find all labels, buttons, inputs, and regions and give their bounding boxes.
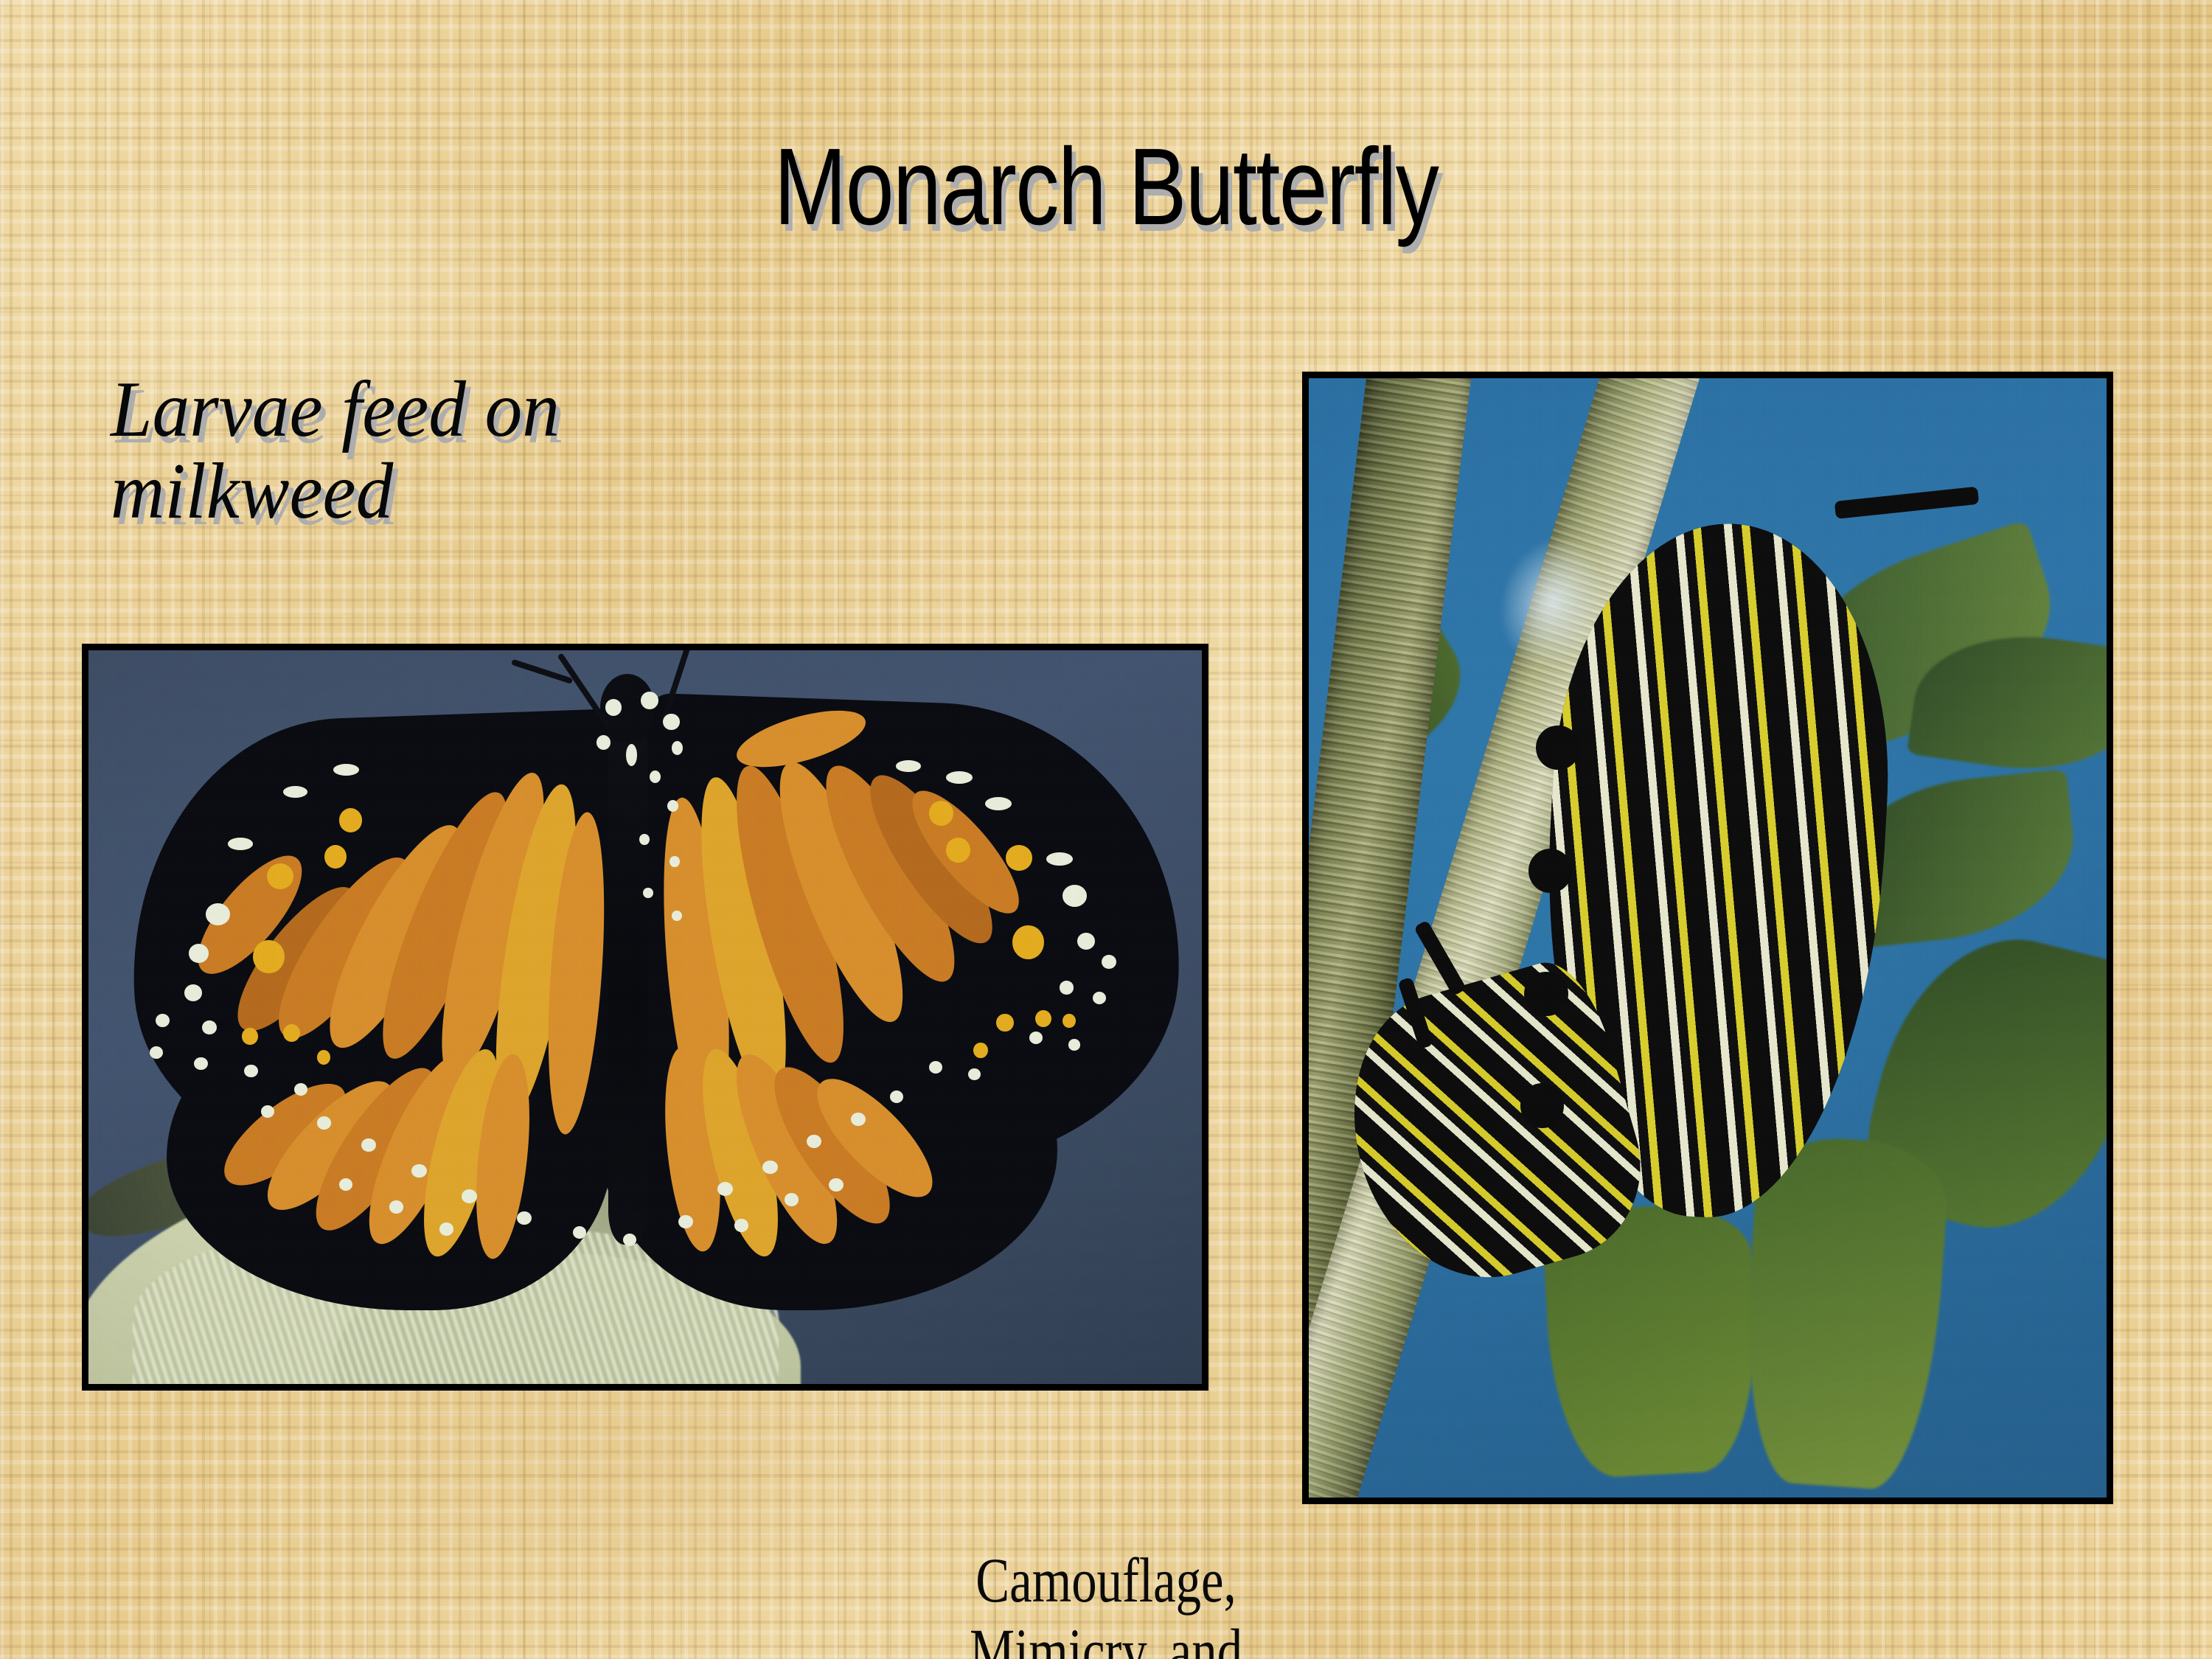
- bottom-caption-line-2: Mimicry, and: [221, 1615, 1991, 1659]
- caterpillar-photo-inner: [1309, 378, 2107, 1498]
- butterfly-photo-film-grain: [88, 650, 1202, 1384]
- slide-canvas: Monarch Butterfly Larvae feed on milkwee…: [0, 0, 2212, 1659]
- butterfly-photo-inner: [88, 650, 1202, 1384]
- butterfly-photo: [82, 644, 1208, 1391]
- caterpillar-photo-film-grain: [1309, 378, 2107, 1498]
- subtitle-text: Larvae feed on milkweed: [111, 369, 769, 532]
- bottom-caption: Camouflage, Mimicry, and: [221, 1545, 1991, 1659]
- page-title: Monarch Butterfly: [221, 133, 1991, 242]
- bottom-caption-line-1: Camouflage,: [221, 1545, 1991, 1615]
- caterpillar-photo: [1302, 372, 2113, 1504]
